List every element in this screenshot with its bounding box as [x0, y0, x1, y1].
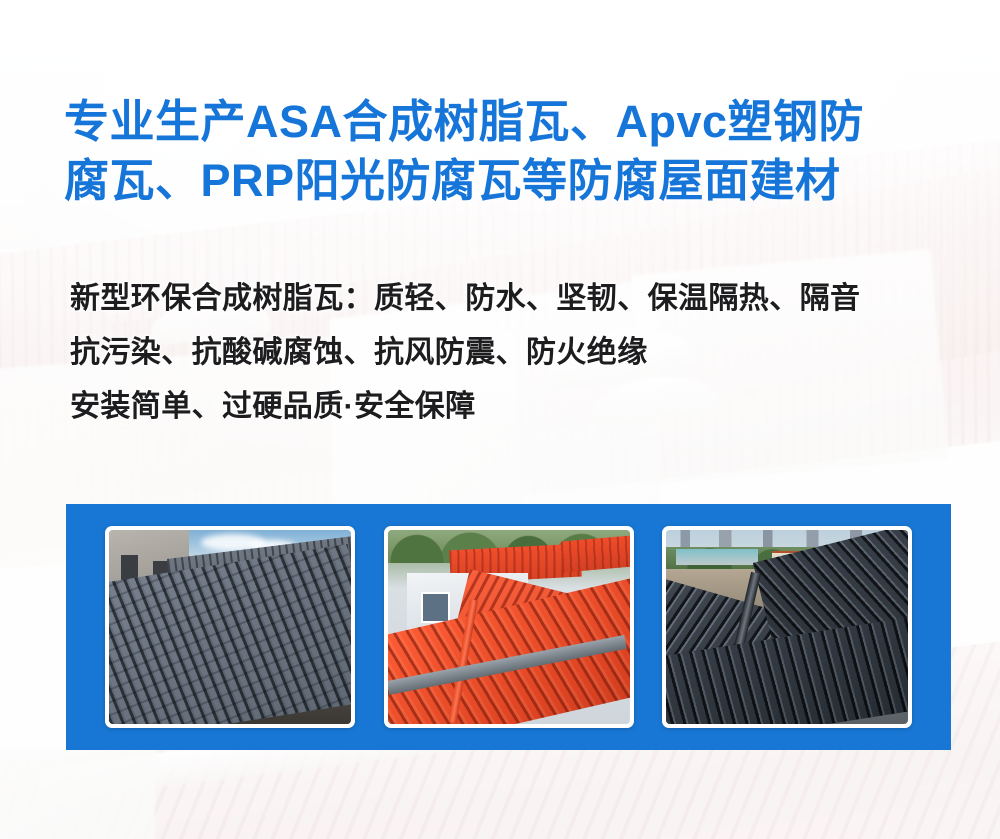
photo2-background-red-roof-2: [561, 534, 630, 572]
subheading-line-3: 安装简单、过硬品质·安全保障: [70, 380, 950, 434]
headline-line-1: 专业生产ASA合成树脂瓦、Apvc塑钢防: [64, 92, 944, 151]
gallery-photo-1[interactable]: [105, 526, 355, 728]
gallery-photo-2[interactable]: [384, 526, 634, 728]
headline: 专业生产ASA合成树脂瓦、Apvc塑钢防 腐瓦、PRP阳光防腐瓦等防腐屋面建材: [64, 92, 944, 210]
headline-line-2: 腐瓦、PRP阳光防腐瓦等防腐屋面建材: [64, 151, 944, 210]
banner-content: 专业生产ASA合成树脂瓦、Apvc塑钢防 腐瓦、PRP阳光防腐瓦等防腐屋面建材 …: [0, 0, 1000, 839]
subheading-line-2: 抗污染、抗酸碱腐蚀、抗风防震、防火绝缘: [70, 326, 950, 380]
grey-resin-tile-roof-courtyard-image: [109, 530, 351, 724]
photo3-village-building-1: [676, 549, 758, 565]
black-resin-tile-pavilion-roof-image: [666, 530, 908, 724]
product-photo-gallery: [66, 504, 951, 750]
red-resin-tile-roof-white-house-image: [388, 530, 630, 724]
photo2-window-1: [421, 592, 450, 623]
subheading: 新型环保合成树脂瓦：质轻、防水、坚韧、保温隔热、隔音 抗污染、抗酸碱腐蚀、抗风防…: [70, 272, 950, 434]
gallery-photo-3[interactable]: [662, 526, 912, 728]
subheading-line-1: 新型环保合成树脂瓦：质轻、防水、坚韧、保温隔热、隔音: [70, 272, 950, 326]
product-promo-banner: 专业生产ASA合成树脂瓦、Apvc塑钢防 腐瓦、PRP阳光防腐瓦等防腐屋面建材 …: [0, 0, 1000, 839]
